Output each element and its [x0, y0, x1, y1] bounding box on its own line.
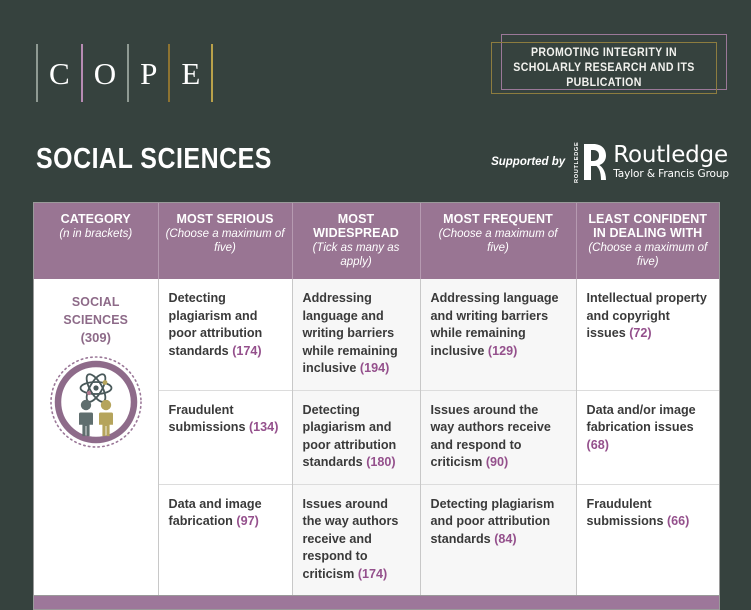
logo-letter-o: O	[83, 45, 127, 103]
page-title: SOCIAL SCIENCES	[36, 142, 272, 176]
results-table-container: CATEGORY (n in brackets) MOST SERIOUS (C…	[33, 202, 720, 610]
column-subtitle: (Choose a maximum of five)	[427, 228, 570, 255]
column-subtitle: (Tick as many as apply)	[299, 242, 414, 269]
cell-count: (174)	[358, 567, 387, 581]
category-label: SOCIAL SCIENCES	[43, 293, 149, 329]
column-subtitle: (n in brackets)	[40, 228, 152, 242]
cell-least-confident-2: Data and/or image fabrication issues (68…	[576, 390, 719, 484]
cell-text: Fraudulent submissions	[587, 497, 667, 529]
cell-count: (90)	[486, 455, 508, 469]
column-header-most-frequent: MOST FREQUENT (Choose a maximum of five)	[420, 203, 576, 279]
table-row: SOCIAL SCIENCES (309)	[34, 279, 719, 390]
sponsor-block: Supported by ROUTLEDGE Routledge Taylor …	[491, 140, 729, 184]
cell-count: (66)	[667, 514, 689, 528]
tagline-gold-frame: PROMOTING INTEGRITY IN SCHOLARLY RESEARC…	[491, 42, 717, 94]
routledge-mark: ROUTLEDGE	[574, 142, 607, 182]
column-title: LEAST CONFIDENT IN DEALING WITH	[583, 212, 714, 240]
routledge-r-icon	[581, 142, 607, 182]
supported-by-label: Supported by	[491, 156, 565, 168]
column-subtitle: (Choose a maximum of five)	[165, 228, 286, 255]
cell-most-frequent-3: Detecting plagiarism and poor attributio…	[420, 484, 576, 595]
logo-bar-5	[211, 44, 213, 102]
results-table: CATEGORY (n in brackets) MOST SERIOUS (C…	[34, 203, 719, 595]
column-title: CATEGORY	[40, 212, 152, 226]
sponsor-subname: Taylor & Francis Group	[613, 169, 729, 180]
cell-text: Data and/or image fabrication issues	[587, 403, 696, 435]
column-header-most-widespread: MOST WIDESPREAD (Tick as many as apply)	[292, 203, 420, 279]
social-sciences-atom-people-icon	[49, 355, 143, 449]
cell-most-serious-1: Detecting plagiarism and poor attributio…	[158, 279, 292, 390]
cell-most-widespread-1: Addressing language and writing barriers…	[292, 279, 420, 390]
cell-count: (194)	[360, 361, 389, 375]
cell-count: (97)	[236, 514, 258, 528]
cell-least-confident-1: Intellectual property and copyright issu…	[576, 279, 719, 390]
infographic-page: C O P E PROMOTING INTEGRITY IN SCHOLARLY…	[0, 0, 751, 600]
cope-logo: C O P E	[36, 44, 213, 102]
column-subtitle: (Choose a maximum of five)	[583, 242, 714, 269]
logo-letter-e: E	[170, 45, 211, 103]
cell-most-widespread-3: Issues around the way authors receive an…	[292, 484, 420, 595]
column-title: MOST WIDESPREAD	[299, 212, 414, 240]
tagline-text: PROMOTING INTEGRITY IN SCHOLARLY RESEARC…	[501, 46, 707, 91]
cell-count: (68)	[587, 438, 609, 452]
cell-count: (84)	[494, 532, 516, 546]
cell-most-serious-2: Fraudulent submissions (134)	[158, 390, 292, 484]
routledge-wordmark: Routledge Taylor & Francis Group	[613, 144, 729, 180]
tagline-block: PROMOTING INTEGRITY IN SCHOLARLY RESEARC…	[491, 40, 727, 98]
column-title: MOST SERIOUS	[165, 212, 286, 226]
routledge-logo: ROUTLEDGE Routledge Taylor & Francis Gro…	[574, 142, 729, 182]
cell-text: Detecting plagiarism and poor attributio…	[431, 497, 555, 546]
logo-letter-c: C	[38, 45, 81, 103]
cell-most-frequent-2: Issues around the way authors receive an…	[420, 390, 576, 484]
cell-count: (129)	[488, 344, 517, 358]
column-header-least-confident: LEAST CONFIDENT IN DEALING WITH (Choose …	[576, 203, 719, 279]
logo-letter-p: P	[129, 45, 168, 103]
sponsor-name: Routledge	[613, 144, 729, 167]
table-footer-bar	[34, 595, 719, 609]
column-header-most-serious: MOST SERIOUS (Choose a maximum of five)	[158, 203, 292, 279]
cell-count: (174)	[232, 344, 261, 358]
cell-most-widespread-2: Detecting plagiarism and poor attributio…	[292, 390, 420, 484]
cell-count: (180)	[366, 455, 395, 469]
column-title: MOST FREQUENT	[427, 212, 570, 226]
cell-count: (72)	[629, 326, 651, 340]
category-count: (309)	[40, 329, 152, 347]
routledge-vertical-text: ROUTLEDGE	[574, 144, 580, 180]
page-header: C O P E PROMOTING INTEGRITY IN SCHOLARLY…	[0, 0, 751, 200]
column-header-category: CATEGORY (n in brackets)	[34, 203, 158, 279]
table-header-row: CATEGORY (n in brackets) MOST SERIOUS (C…	[34, 203, 719, 279]
cell-most-serious-3: Data and image fabrication (97)	[158, 484, 292, 595]
category-cell: SOCIAL SCIENCES (309)	[34, 279, 158, 595]
cell-least-confident-3: Fraudulent submissions (66)	[576, 484, 719, 595]
cell-text: Fraudulent submissions	[169, 403, 249, 435]
cell-most-frequent-1: Addressing language and writing barriers…	[420, 279, 576, 390]
cell-count: (134)	[249, 420, 278, 434]
